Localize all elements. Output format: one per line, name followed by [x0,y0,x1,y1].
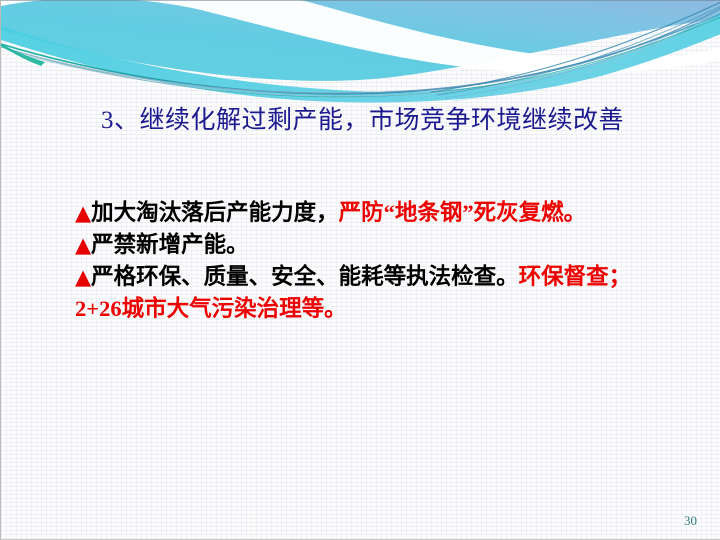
bullet-line-2-black-text: 严禁新增产能。 [91,232,249,257]
bullet-line-2: ▲严禁新增产能。 [75,229,675,261]
bullet-line-3: ▲严格环保、质量、安全、能耗等执法检查。环保督查； [75,261,675,293]
header-wave-graphic [1,0,720,110]
triangle-bullet-icon: ▲ [75,201,91,225]
bullet-line-1: ▲加大淘汰落后产能力度，严防“地条钢”死灰复燃。 [75,197,675,229]
bullet-line-4-red-text: 2+26城市大气污染治理等。 [75,296,347,321]
triangle-bullet-icon: ▲ [75,233,91,257]
bullet-line-3-black-text: 严格环保、质量、安全、能耗等执法检查。 [91,264,519,289]
triangle-bullet-icon: ▲ [75,265,91,289]
bullet-line-3-continuation: 2+26城市大气污染治理等。 [75,293,675,324]
body-content: ▲加大淘汰落后产能力度，严防“地条钢”死灰复燃。 ▲严禁新增产能。 ▲严格环保、… [75,197,675,324]
page-number: 30 [684,513,697,529]
bullet-line-1-red-text: 严防“地条钢”死灰复燃。 [339,200,587,225]
page-title: 3、继续化解过剩产能，市场竞争环境继续改善 [101,104,624,138]
presentation-slide: 3、继续化解过剩产能，市场竞争环境继续改善 ▲加大淘汰落后产能力度，严防“地条钢… [0,0,720,540]
bullet-line-3-red-text: 环保督查； [519,264,632,289]
bullet-line-1-black-text: 加大淘汰落后产能力度， [91,200,339,225]
